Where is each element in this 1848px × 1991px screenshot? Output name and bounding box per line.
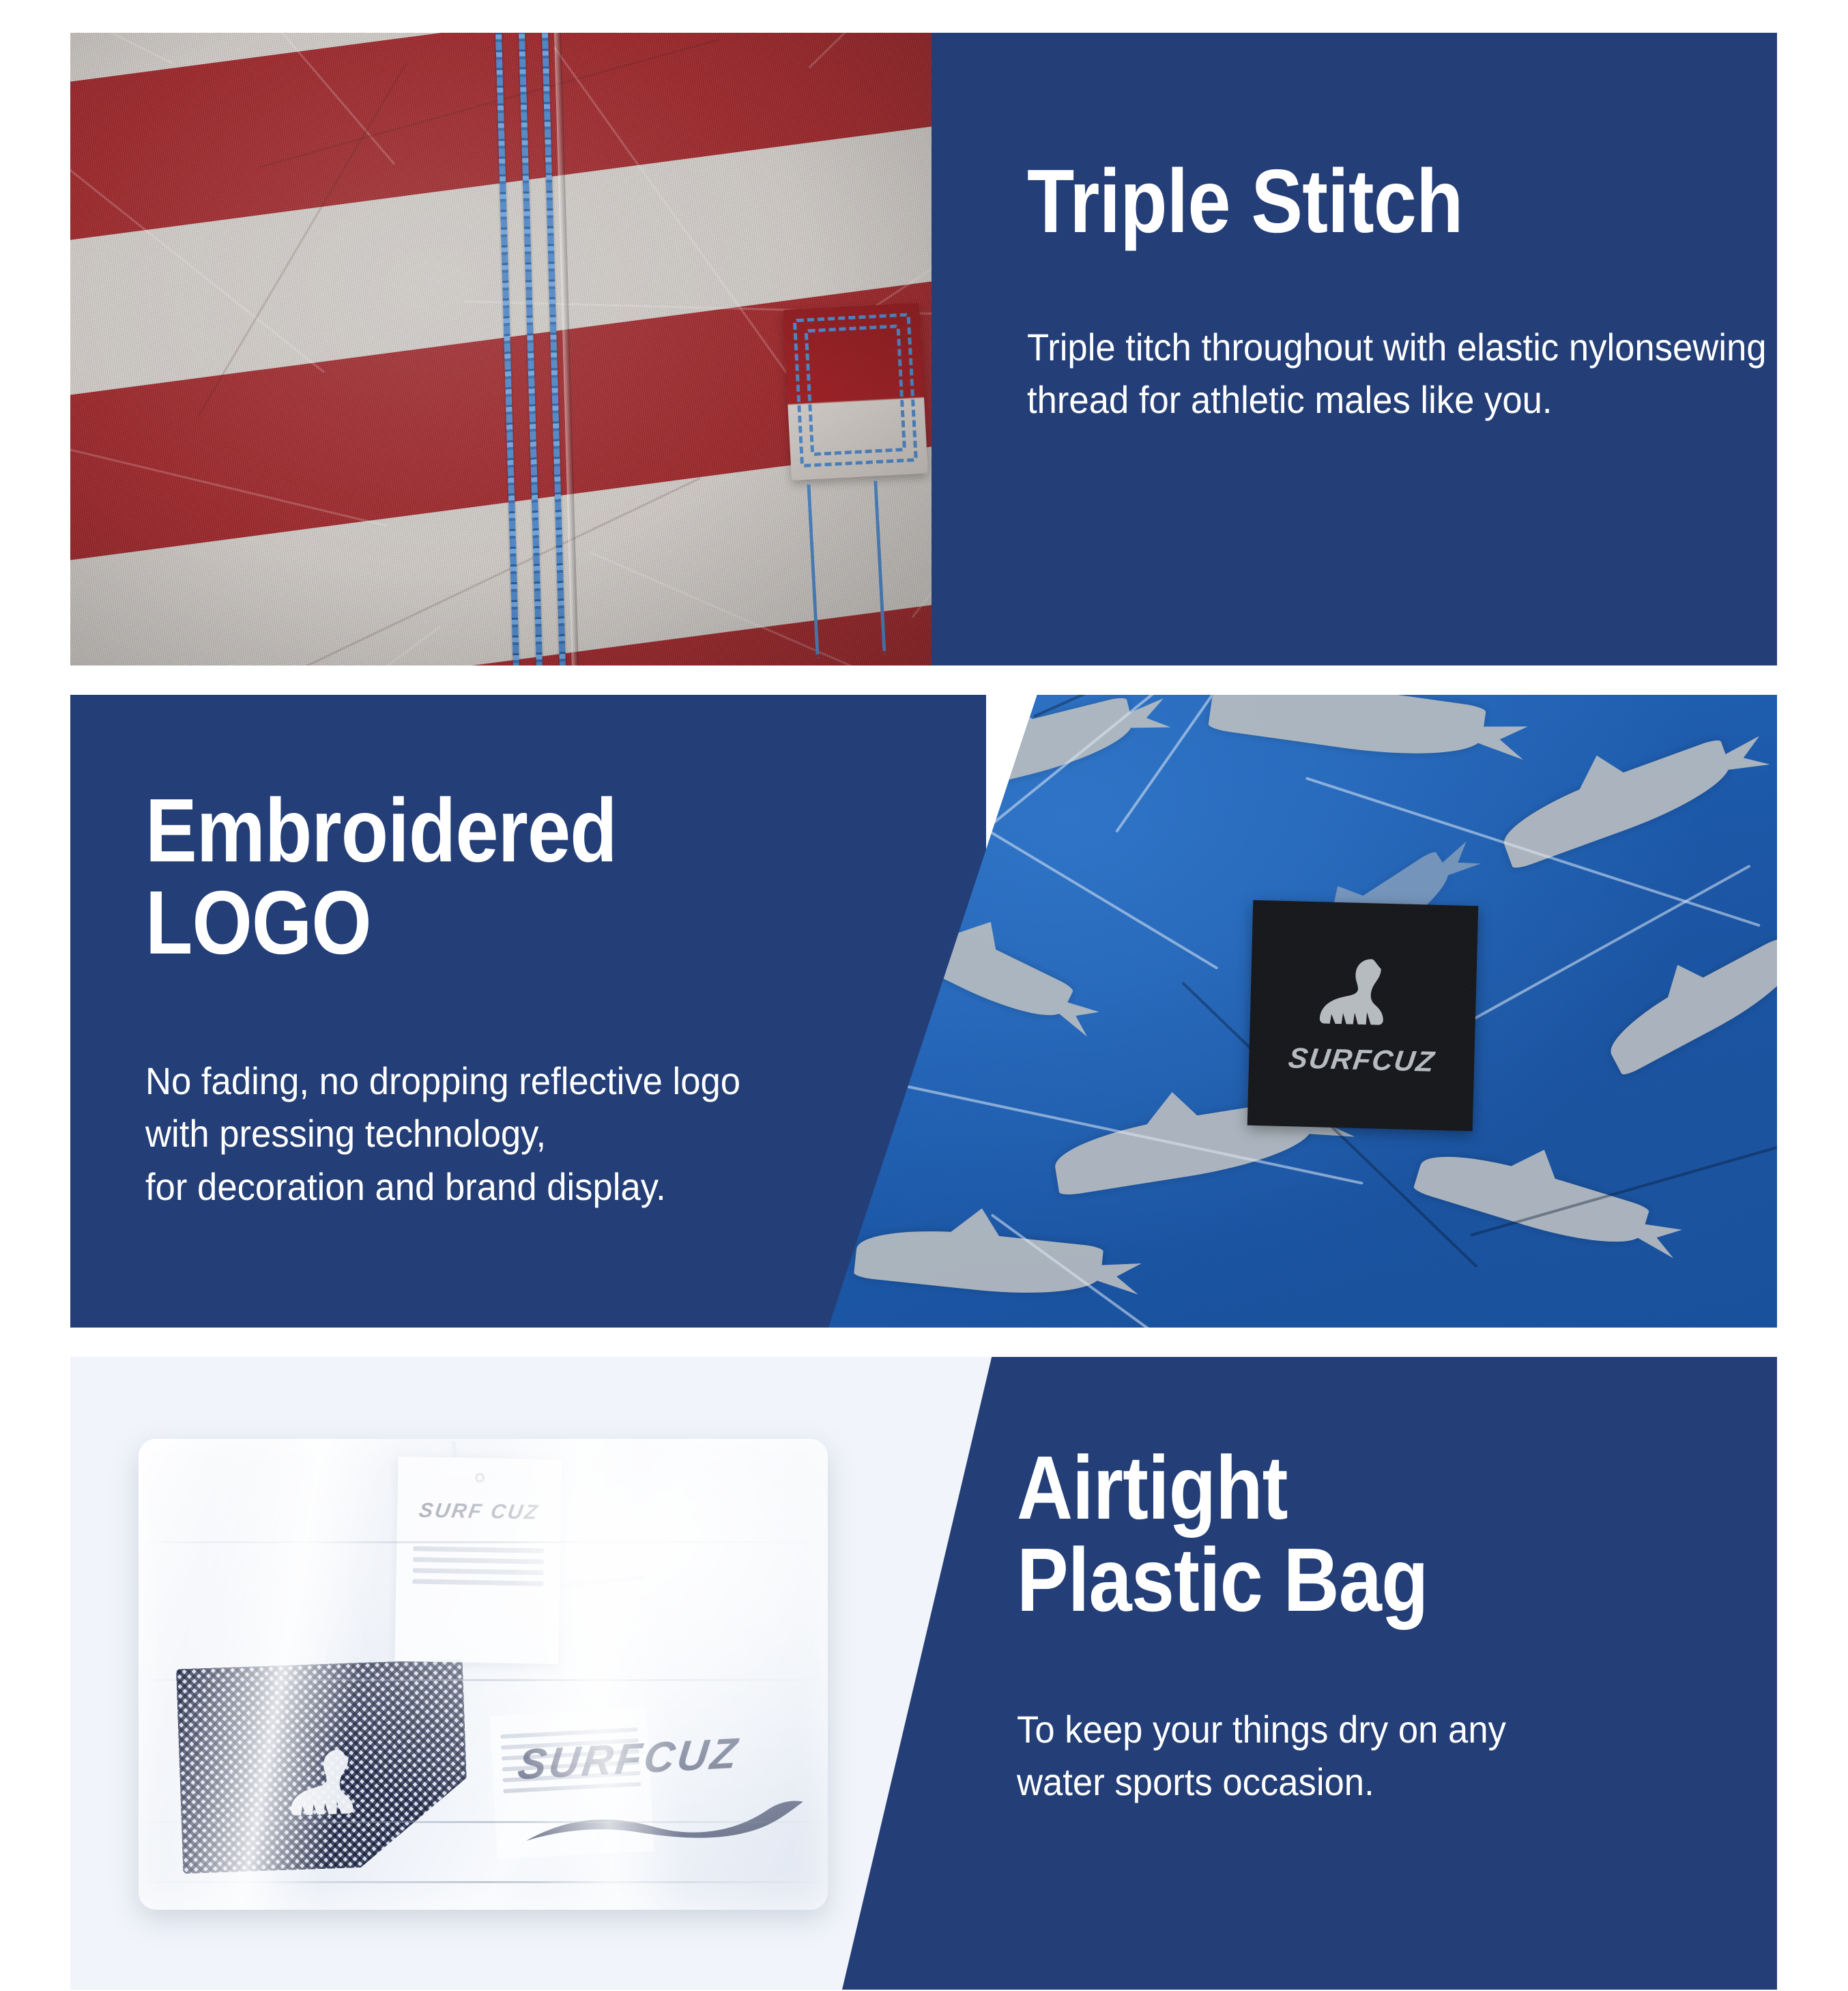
panel-3-headline-line-2: Plastic Bag [1017, 1530, 1428, 1630]
surfcuz-logo-patch: SURFCUZ [1247, 900, 1479, 1132]
panel-2-body-line-2: with pressing technology, [145, 1112, 546, 1155]
panel-1-body: Triple titch throughout with elastic nyl… [1027, 321, 1784, 427]
panel-3-body-line-2: water sports occasion. [1017, 1760, 1374, 1803]
airtight-plastic-bag: SURF CUZ SURFCUZ [139, 1439, 828, 1910]
panel-3-body-line-1: To keep your things dry on any [1017, 1708, 1506, 1751]
panel-2-headline-line-2: LOGO [145, 872, 371, 973]
feature-panel-airtight-plastic-bag: SURF CUZ SURFCUZ [70, 1357, 1777, 1990]
dinosaur-icon [1311, 954, 1415, 1038]
panel-2-body-line-3: for decoration and brand display. [145, 1165, 666, 1208]
panel-2-body: No fading, no dropping reflective logo w… [145, 1055, 947, 1213]
panel-3-body: To keep your things dry on any water spo… [1017, 1703, 1761, 1809]
surfcuz-wordmark: SURFCUZ [1286, 1042, 1437, 1078]
panel-3-headline-line-1: Airtight [1017, 1437, 1288, 1538]
panel-2-headline-line-1: Embroidered [145, 780, 617, 880]
panel-2-body-line-1: No fading, no dropping reflective logo [145, 1059, 740, 1102]
panel-1-headline: Triple Stitch [1027, 156, 1463, 248]
panel-2-headline: Embroidered LOGO [145, 785, 617, 969]
bag-plastic-sheen [139, 1439, 828, 1910]
photo-vignette [70, 33, 932, 665]
triple-stitch-photo [70, 33, 932, 665]
panel-3-headline: Airtight Plastic Bag [1017, 1442, 1428, 1626]
